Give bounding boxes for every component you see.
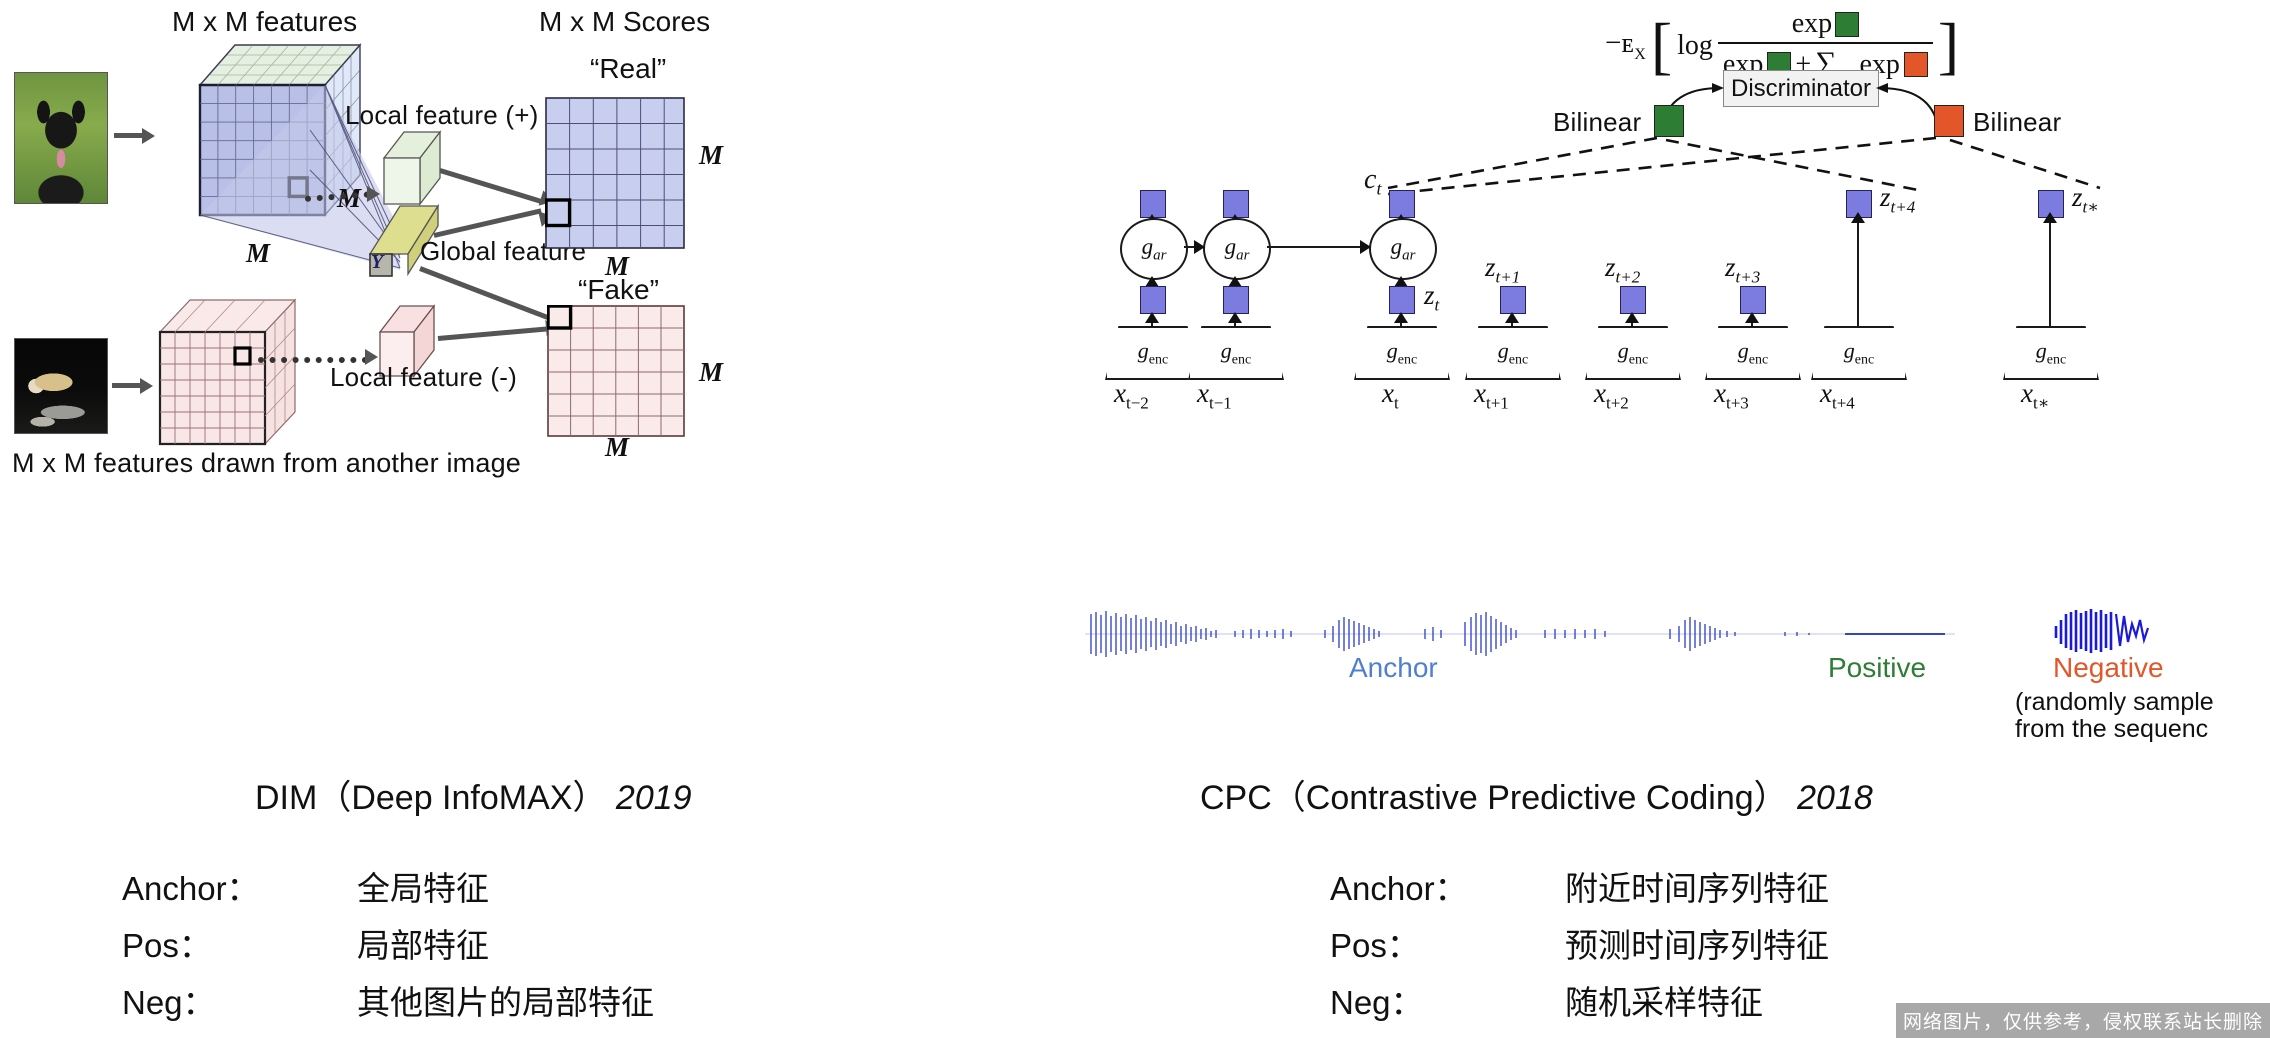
cpc-legend-neg-key: Neg： bbox=[1330, 976, 1565, 1024]
genc8-to-z-line bbox=[2049, 216, 2051, 342]
local-feature-pos-label: Local feature (+) bbox=[345, 100, 538, 131]
genc-cell-2-label: genc bbox=[1221, 338, 1251, 368]
genc-cell-1: genc bbox=[1105, 326, 1201, 380]
bracket-close: ] bbox=[1938, 26, 1959, 66]
dim-legend-row-anchor: Anchor： 全局特征 bbox=[122, 862, 654, 910]
z-box-t-plus-1 bbox=[1500, 286, 1526, 314]
loss-expectation: −ᴇX bbox=[1605, 27, 1646, 64]
z-label-t-plus-4: zt+4 bbox=[1880, 182, 1915, 217]
dim-m-label-bottom: M bbox=[246, 238, 270, 269]
genc-cell-8-label: genc bbox=[2036, 338, 2066, 368]
z-box-t-minus-1 bbox=[1223, 286, 1249, 314]
genc5-to-z-arrow bbox=[1625, 312, 1639, 323]
x-label-t-star: xt∗ bbox=[2021, 378, 2049, 413]
audio-waveform-negative bbox=[2050, 606, 2160, 656]
gar-link-1-arrow bbox=[1194, 240, 1205, 254]
genc-cell-2: genc bbox=[1188, 326, 1284, 380]
score-matrix-real bbox=[545, 97, 685, 249]
positive-region-label: Positive bbox=[1828, 652, 1926, 684]
genc-cell-8: genc bbox=[2003, 326, 2099, 380]
genc7-to-z-arrow bbox=[1851, 212, 1865, 223]
x-label-t-minus-1: xt−1 bbox=[1197, 378, 1232, 413]
real-matrix-m-right: M bbox=[699, 140, 723, 171]
genc7-to-z-line bbox=[1857, 216, 1859, 342]
genc1-to-z-arrow bbox=[1145, 312, 1159, 323]
dim-legend-pos-val: 局部特征 bbox=[357, 919, 489, 967]
bilinear-dashed-links bbox=[1380, 118, 2270, 213]
x-label-t: xt bbox=[1382, 378, 1399, 413]
fake-matrix-m-right: M bbox=[699, 357, 723, 388]
x-label-t-plus-1: xt+1 bbox=[1474, 378, 1509, 413]
genc-cell-1-label: genc bbox=[1138, 338, 1168, 368]
fake-matrix-m-bottom: M bbox=[605, 432, 629, 463]
global-feature-y-label: Y bbox=[371, 251, 383, 274]
z-label-t-star: zt∗ bbox=[2072, 182, 2099, 217]
z-label-t-plus-3: zt+3 bbox=[1725, 252, 1760, 287]
negative-image-leopard bbox=[14, 338, 108, 434]
dim-features-header: M x M features bbox=[172, 6, 357, 38]
cpc-legend-pos-val: 预测时间序列特征 bbox=[1565, 919, 1829, 967]
cpc-legend: Anchor： 附近时间序列特征 Pos： 预测时间序列特征 Neg： 随机采样… bbox=[1330, 862, 1829, 1024]
bracket-open: [ bbox=[1651, 26, 1672, 66]
fraction-numerator: exp bbox=[1786, 8, 1865, 42]
cpc-caption-name: CPC（Contrastive Predictive Coding） bbox=[1200, 779, 1788, 817]
cpc-caption-year: 2018 bbox=[1797, 779, 1873, 817]
dim-scores-header: M x M Scores bbox=[539, 6, 710, 38]
genc-cell-7-label: genc bbox=[1844, 338, 1874, 368]
anchor-image-dog bbox=[14, 72, 108, 204]
dim-legend-row-neg: Neg： 其他图片的局部特征 bbox=[122, 976, 654, 1024]
dim-caption: DIM（Deep InfoMAX） 2019 bbox=[255, 770, 692, 819]
arrow-leopard-to-cube bbox=[112, 383, 142, 388]
cpc-legend-anchor-key: Anchor： bbox=[1330, 862, 1565, 910]
anchor-region-label: Anchor bbox=[1349, 652, 1438, 684]
z-box-t-plus-3 bbox=[1740, 286, 1766, 314]
cpc-legend-neg-val: 随机采样特征 bbox=[1565, 976, 1763, 1024]
gar-cell-2: gar bbox=[1203, 218, 1271, 280]
cpc-legend-anchor-val: 附近时间序列特征 bbox=[1565, 862, 1829, 910]
feature-cube-pink bbox=[140, 292, 310, 462]
ct-label: ct bbox=[1364, 164, 1381, 200]
genc-cell-5: genc bbox=[1585, 326, 1681, 380]
dim-caption-name: DIM（Deep InfoMAX） bbox=[255, 779, 606, 817]
genc-cell-5-label: genc bbox=[1618, 338, 1648, 368]
dim-legend-row-pos: Pos： 局部特征 bbox=[122, 919, 654, 967]
gar-link-2 bbox=[1267, 246, 1362, 248]
genc-cell-4: genc bbox=[1465, 326, 1561, 380]
x-label-t-plus-2: xt+2 bbox=[1594, 378, 1629, 413]
loss-log: log bbox=[1677, 30, 1713, 62]
gar-cell-1: gar bbox=[1120, 218, 1188, 280]
score-matrix-fake bbox=[547, 305, 685, 437]
dim-caption-year: 2019 bbox=[616, 779, 692, 817]
genc-cell-7: genc bbox=[1811, 326, 1907, 380]
x-label-t-minus-2: xt−2 bbox=[1114, 378, 1149, 413]
arrow-dog-to-cube bbox=[114, 133, 144, 138]
dim-legend-neg-val: 其他图片的局部特征 bbox=[357, 976, 654, 1024]
cpc-caption: CPC（Contrastive Predictive Coding） 2018 bbox=[1200, 770, 1873, 819]
gar-link-2-arrow bbox=[1360, 240, 1371, 254]
audio-waveform-anchor-positive bbox=[1085, 608, 1955, 660]
genc-cell-6: genc bbox=[1705, 326, 1801, 380]
dim-legend: Anchor： 全局特征 Pos： 局部特征 Neg： 其他图片的局部特征 bbox=[122, 862, 654, 1024]
watermark: 网络图片，仅供参考，侵权联系站长删除 bbox=[1896, 1003, 2270, 1038]
x-label-t-plus-3: xt+3 bbox=[1714, 378, 1749, 413]
genc2-to-z-arrow bbox=[1228, 312, 1242, 323]
genc4-to-z-arrow bbox=[1505, 312, 1519, 323]
cpc-legend-pos-key: Pos： bbox=[1330, 919, 1565, 967]
x-label-t-plus-4: xt+4 bbox=[1820, 378, 1855, 413]
z-label-t-plus-2: zt+2 bbox=[1605, 252, 1640, 287]
genc-cell-6-label: genc bbox=[1738, 338, 1768, 368]
gar-cell-3: gar bbox=[1369, 218, 1437, 280]
negative-note-line2: from the sequenc bbox=[2015, 715, 2208, 744]
green-swatch-numerator bbox=[1835, 12, 1859, 37]
dim-footnote: M x M features drawn from another image bbox=[12, 448, 521, 479]
arrow-localneg-to-fake bbox=[438, 326, 551, 341]
gar-cell-1-label: gar bbox=[1142, 234, 1167, 265]
cpc-legend-row-anchor: Anchor： 附近时间序列特征 bbox=[1330, 862, 1829, 910]
genc6-to-z-arrow bbox=[1745, 312, 1759, 323]
z-box-t-minus-2 bbox=[1140, 286, 1166, 314]
genc3-to-z-arrow bbox=[1394, 312, 1408, 323]
dim-legend-anchor-val: 全局特征 bbox=[357, 862, 489, 910]
gar-cell-3-label: gar bbox=[1391, 234, 1416, 265]
dim-real-label: “Real” bbox=[590, 53, 666, 85]
dim-legend-neg-key: Neg： bbox=[122, 976, 357, 1024]
dim-legend-pos-key: Pos： bbox=[122, 919, 357, 967]
local-feature-neg-label: Local feature (-) bbox=[330, 362, 517, 393]
negative-note-line1: (randomly sample bbox=[2015, 688, 2214, 717]
z-label-t: zt bbox=[1424, 280, 1439, 315]
gar-cell-2-label: gar bbox=[1225, 234, 1250, 265]
cpc-legend-row-pos: Pos： 预测时间序列特征 bbox=[1330, 919, 1829, 967]
z-box-t bbox=[1389, 286, 1415, 314]
genc-cell-4-label: genc bbox=[1498, 338, 1528, 368]
negative-region-label: Negative bbox=[2053, 652, 2164, 684]
dim-legend-anchor-key: Anchor： bbox=[122, 862, 357, 910]
arrow-localpos-to-real bbox=[439, 168, 542, 204]
real-matrix-m-bottom: M bbox=[605, 251, 629, 282]
z-label-t-plus-1: zt+1 bbox=[1485, 252, 1520, 287]
genc-cell-3: genc bbox=[1354, 326, 1450, 380]
genc-cell-3-label: genc bbox=[1387, 338, 1417, 368]
genc8-to-z-arrow bbox=[2043, 212, 2057, 223]
z-box-t-plus-2 bbox=[1620, 286, 1646, 314]
cpc-legend-row-neg: Neg： 随机采样特征 bbox=[1330, 976, 1829, 1024]
